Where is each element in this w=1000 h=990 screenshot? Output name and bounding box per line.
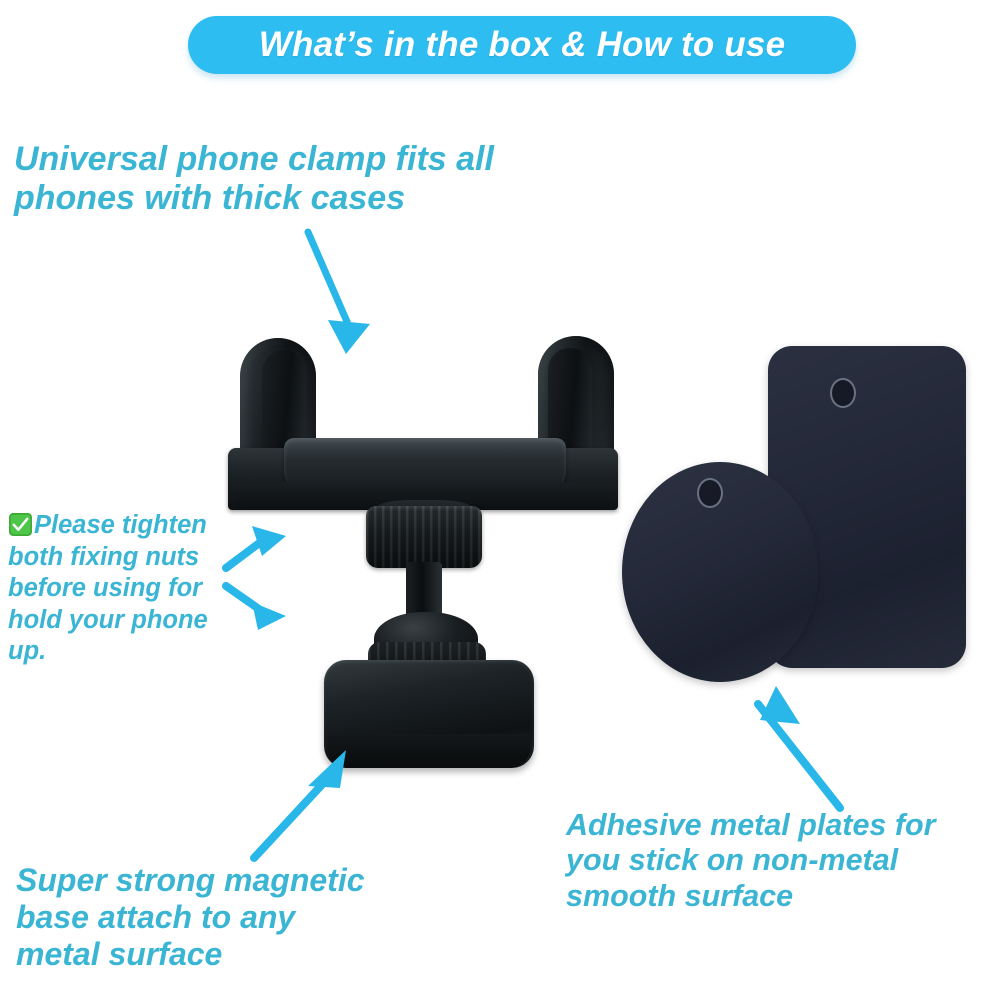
arrow-down-right-nut-icon [222,578,372,634]
caption-magnetic-base: Super strong magnetic base attach to any… [16,862,446,973]
arrow-up-right-nut-icon [222,524,372,574]
caption-metal-plates: Adhesive metal plates for you stick on n… [566,808,998,914]
caption-fixing-nuts-text: Please tighten both fixing nuts before u… [8,511,208,665]
caption-fixing-nuts-block: Please tighten both fixing nuts before u… [8,510,238,668]
upper-fixing-nut [366,506,482,568]
page-title: What’s in the box & How to use [259,25,786,65]
title-banner: What’s in the box & How to use [188,16,856,74]
caption-universal-clamp: Universal phone clamp fits all phones wi… [14,140,574,219]
circular-plate-notch-icon [697,478,723,508]
rectangular-plate-notch-icon [830,378,856,408]
check-mark-icon [8,512,33,537]
arrow-up-right-base-icon [248,742,418,872]
arrow-up-left-plates-icon [700,668,870,818]
arrow-down-right-icon [280,220,400,360]
infographic-page: What’s in the box & How to use Universal… [0,0,1000,990]
